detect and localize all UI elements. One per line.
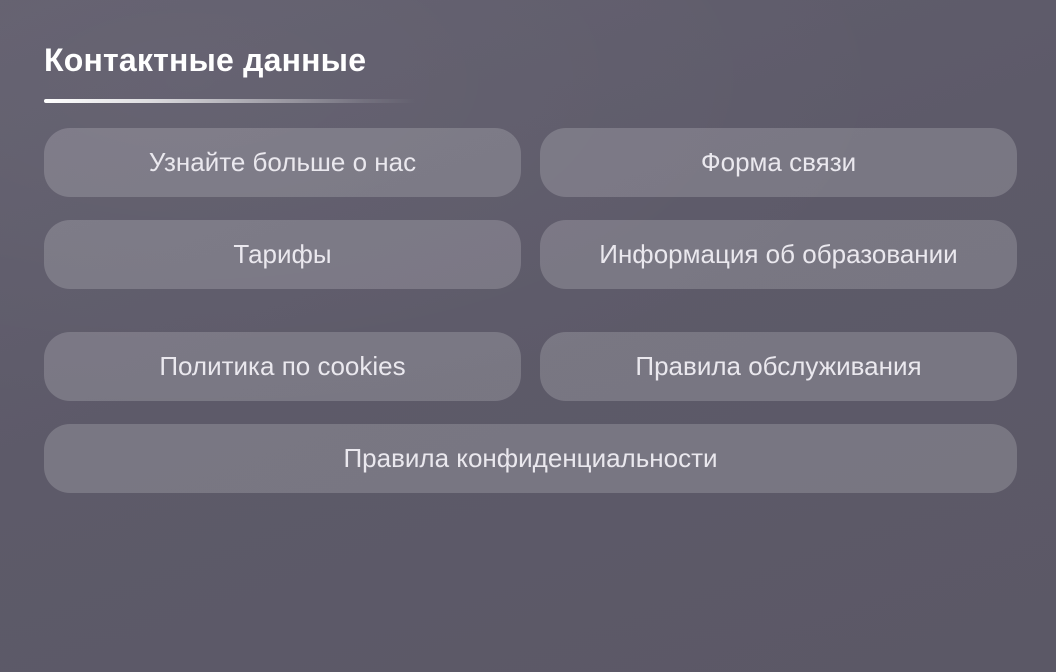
legal-links-grid: Политика по cookies Правила обслуживания… xyxy=(44,332,1013,493)
link-education-info-label: Информация об образовании xyxy=(562,237,995,271)
link-about-us-label: Узнайте больше о нас xyxy=(66,145,499,179)
link-terms-of-service-label: Правила обслуживания xyxy=(562,349,995,383)
link-terms-of-service[interactable]: Правила обслуживания xyxy=(540,332,1017,401)
link-privacy-policy[interactable]: Правила конфиденциальности xyxy=(44,424,1017,493)
page-title: Контактные данные xyxy=(44,0,1013,80)
link-education-info[interactable]: Информация об образовании xyxy=(540,220,1017,289)
link-contact-form[interactable]: Форма связи xyxy=(540,128,1017,197)
link-privacy-policy-label: Правила конфиденциальности xyxy=(66,441,995,475)
primary-links-grid: Узнайте больше о нас Форма связи Тарифы … xyxy=(44,128,1013,289)
link-pricing-label: Тарифы xyxy=(66,237,499,271)
link-about-us[interactable]: Узнайте больше о нас xyxy=(44,128,521,197)
heading-underline-divider xyxy=(44,99,416,103)
link-cookie-policy[interactable]: Политика по cookies xyxy=(44,332,521,401)
link-contact-form-label: Форма связи xyxy=(562,145,995,179)
link-cookie-policy-label: Политика по cookies xyxy=(66,349,499,383)
link-pricing[interactable]: Тарифы xyxy=(44,220,521,289)
contact-footer-panel: Контактные данные Узнайте больше о нас Ф… xyxy=(0,0,1056,672)
